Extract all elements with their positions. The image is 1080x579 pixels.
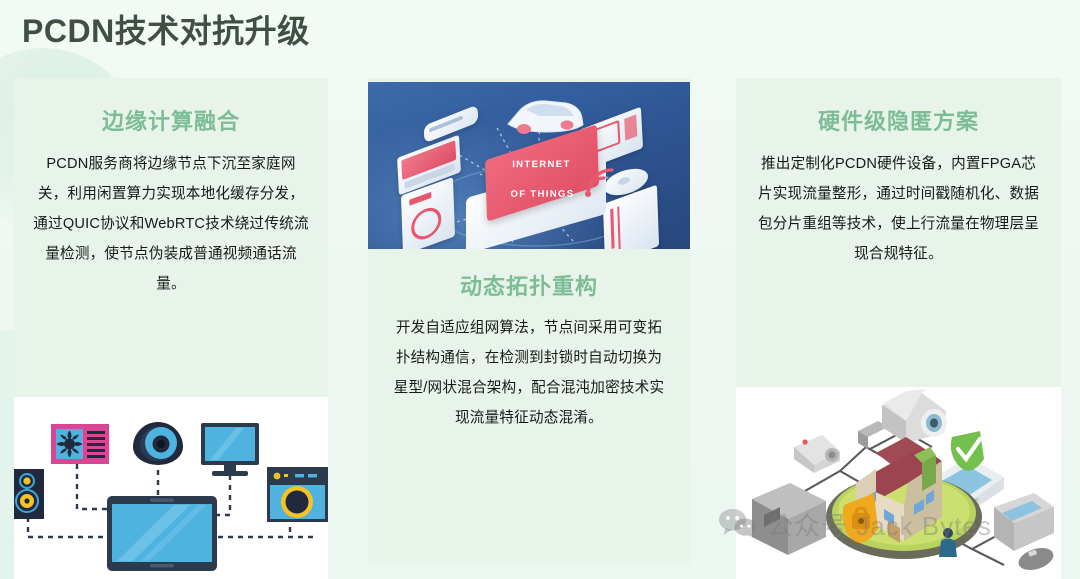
air-conditioner-icon bbox=[51, 424, 109, 464]
card-body-hardware-stealth: 推出定制化PCDN硬件设备，内置FPGA芯片实现流量整形，通过时间戳随机化、数据… bbox=[756, 149, 1041, 269]
wifi-icon bbox=[582, 164, 620, 198]
card-body-edge-computing: PCDN服务商将边缘节点下沉至家庭网关，利用闲置算力实现本地化缓存分发，通过QU… bbox=[32, 149, 310, 299]
internet-of-things-illustration: INTERNET OF THINGS bbox=[368, 82, 690, 249]
card-heading-hardware-stealth: 硬件级隐匿方案 bbox=[756, 104, 1041, 136]
card-hardware-stealth: 硬件级隐匿方案 推出定制化PCDN硬件设备，内置FPGA芯片实现流量整形，通过时… bbox=[736, 78, 1061, 387]
card-edge-computing: 边缘计算融合 PCDN服务商将边缘节点下沉至家庭网关，利用闲置算力实现本地化缓存… bbox=[14, 78, 328, 397]
devices-network-svg bbox=[14, 397, 328, 579]
card-body-dynamic-topology: 开发自适应组网算法，节点间采用可变拓扑结构通信，在检测到封锁时自动切换为星型/网… bbox=[368, 313, 690, 433]
card-heading-edge-computing: 边缘计算融合 bbox=[32, 104, 310, 136]
washing-machine-icon bbox=[267, 467, 328, 522]
smart-home-devices-illustration bbox=[14, 397, 328, 579]
smart-home-security-svg bbox=[736, 387, 1061, 579]
laptop-icon bbox=[107, 496, 217, 571]
speaker-icon bbox=[14, 469, 44, 519]
smart-home-security-illustration bbox=[736, 387, 1061, 579]
page-title: PCDN技术对抗升级 bbox=[22, 10, 310, 53]
card-heading-dynamic-topology: 动态拓扑重构 bbox=[368, 269, 690, 301]
